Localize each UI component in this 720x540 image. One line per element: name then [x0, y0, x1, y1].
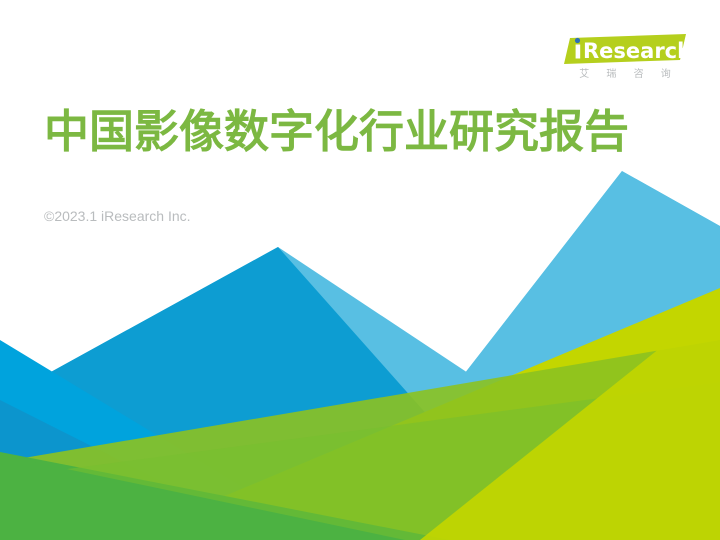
- svg-text:Research: Research: [583, 39, 686, 63]
- iresearch-wordmark-mark: Research: [564, 34, 686, 64]
- iresearch-logo: Research 艾 瑞 咨 询: [564, 34, 686, 82]
- copyright-notice: ©2023.1 iResearch Inc.: [44, 207, 191, 225]
- iresearch-logo-icon: Research: [564, 34, 686, 64]
- iresearch-logo-subtitle: 艾 瑞 咨 询: [564, 68, 686, 82]
- report-title: 中国影像数字化行业研究报告: [44, 104, 629, 160]
- report-cover-slide: Research 艾 瑞 咨 询 中国影像数字化行业研究报告 ©2023.1 i…: [0, 0, 720, 540]
